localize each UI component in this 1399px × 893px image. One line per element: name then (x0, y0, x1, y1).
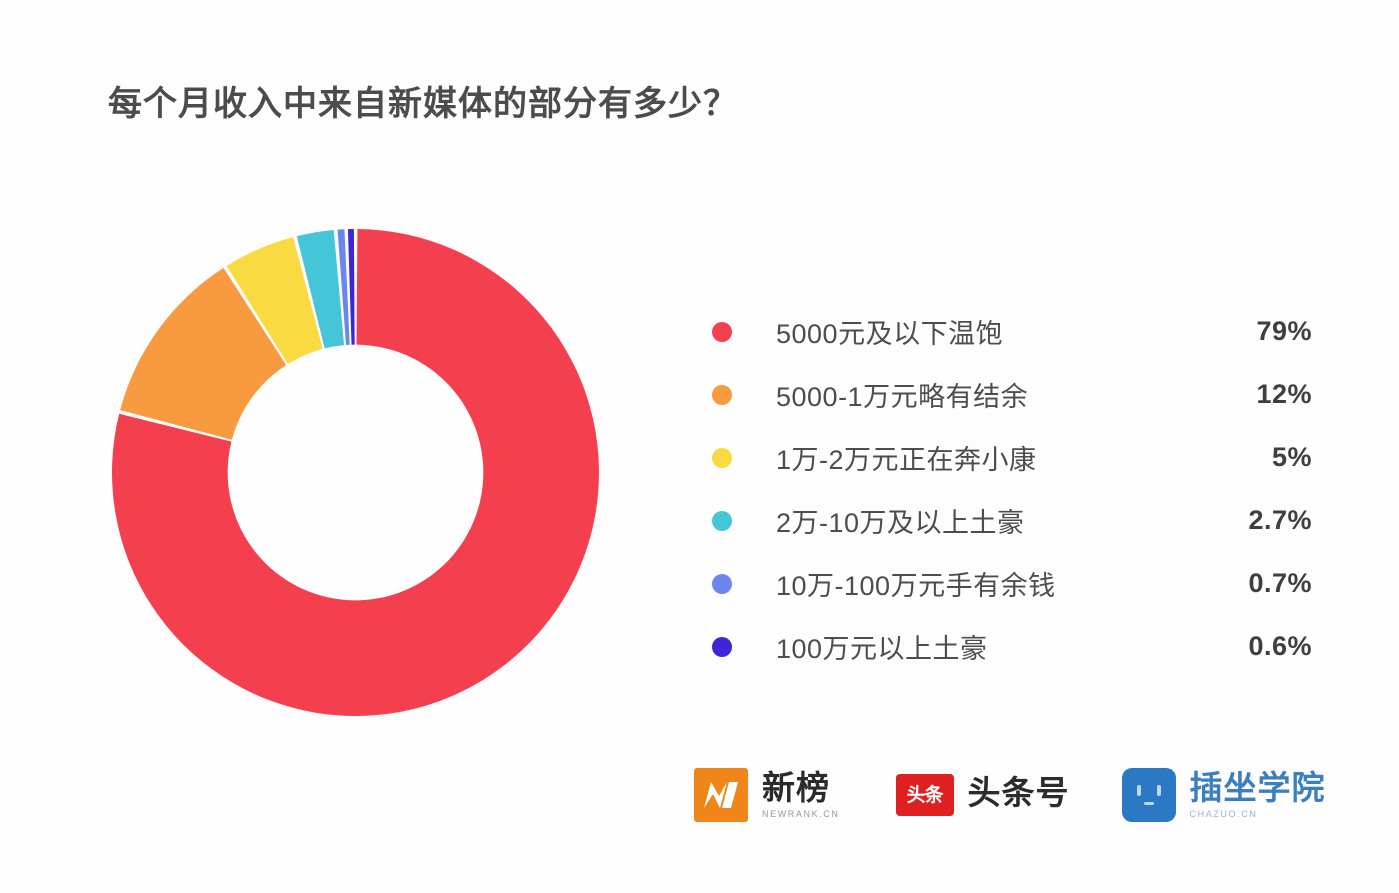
legend-label-4: 10万-100万元手有余钱 (776, 564, 1202, 603)
donut-slice[interactable] (348, 229, 355, 345)
legend-value-0: 79% (1202, 316, 1312, 347)
legend-label-2: 1万-2万元正在奔小康 (776, 438, 1202, 477)
legend-label-1: 5000-1万元略有结余 (776, 375, 1202, 414)
legend-value-3: 2.7% (1202, 505, 1312, 536)
donut-chart-svg (112, 229, 599, 716)
legend-value-5: 0.6% (1202, 631, 1312, 662)
legend-swatch-icon-0 (712, 322, 732, 342)
legend-item-3[interactable]: 2万-10万及以上土豪 2.7% (712, 489, 1312, 552)
logo-toutiaohao-text: 头条号 (968, 776, 1070, 814)
legend-swatch-icon-1 (712, 385, 732, 405)
legend-swatch-icon-4 (712, 574, 732, 594)
legend-swatch-icon-5 (712, 637, 732, 657)
toutiao-mark-icon: 头条 (896, 774, 954, 816)
chazuo-mark-icon (1122, 768, 1176, 822)
logo-chazuo-text: 插坐学院 CHAZUO.CN (1190, 771, 1326, 819)
logo-toutiaohao[interactable]: 头条 头条号 (896, 774, 1070, 816)
logo-newrank-en: NEWRANK.CN (762, 809, 840, 819)
footer-logo-bar: 新榜 NEWRANK.CN 头条 头条号 插坐学院 CHAZUO.CN (694, 768, 1326, 822)
legend-swatch-icon-3 (712, 511, 732, 531)
newrank-mark-icon (694, 768, 748, 822)
legend-value-1: 12% (1202, 379, 1312, 410)
legend-label-0: 5000元及以下温饱 (776, 312, 1202, 351)
legend-item-5[interactable]: 100万元以上土豪 0.6% (712, 615, 1312, 678)
logo-chazuo[interactable]: 插坐学院 CHAZUO.CN (1122, 768, 1326, 822)
legend-value-4: 0.7% (1202, 568, 1312, 599)
logo-newrank-cn: 新榜 (762, 771, 840, 806)
legend-item-0[interactable]: 5000元及以下温饱 79% (712, 300, 1312, 363)
legend-label-5: 100万元以上土豪 (776, 627, 1202, 666)
legend-label-3: 2万-10万及以上土豪 (776, 501, 1202, 540)
page-title: 每个月收入中来自新媒体的部分有多少？ (108, 84, 738, 125)
logo-toutiaohao-cn: 头条号 (968, 776, 1070, 811)
logo-newrank-text: 新榜 NEWRANK.CN (762, 771, 840, 819)
logo-chazuo-en: CHAZUO.CN (1190, 809, 1326, 819)
donut-chart (112, 229, 599, 716)
donut-slice-group (112, 229, 599, 716)
chart-page: 每个月收入中来自新媒体的部分有多少？ 5000元及以下温饱 79% 5000-1… (0, 0, 1399, 893)
legend-value-2: 5% (1202, 442, 1312, 473)
legend-item-4[interactable]: 10万-100万元手有余钱 0.7% (712, 552, 1312, 615)
logo-chazuo-cn: 插坐学院 (1190, 771, 1326, 806)
legend-swatch-icon-2 (712, 448, 732, 468)
chart-legend: 5000元及以下温饱 79% 5000-1万元略有结余 12% 1万-2万元正在… (712, 300, 1312, 678)
legend-item-1[interactable]: 5000-1万元略有结余 12% (712, 363, 1312, 426)
logo-newrank[interactable]: 新榜 NEWRANK.CN (694, 768, 840, 822)
legend-item-2[interactable]: 1万-2万元正在奔小康 5% (712, 426, 1312, 489)
